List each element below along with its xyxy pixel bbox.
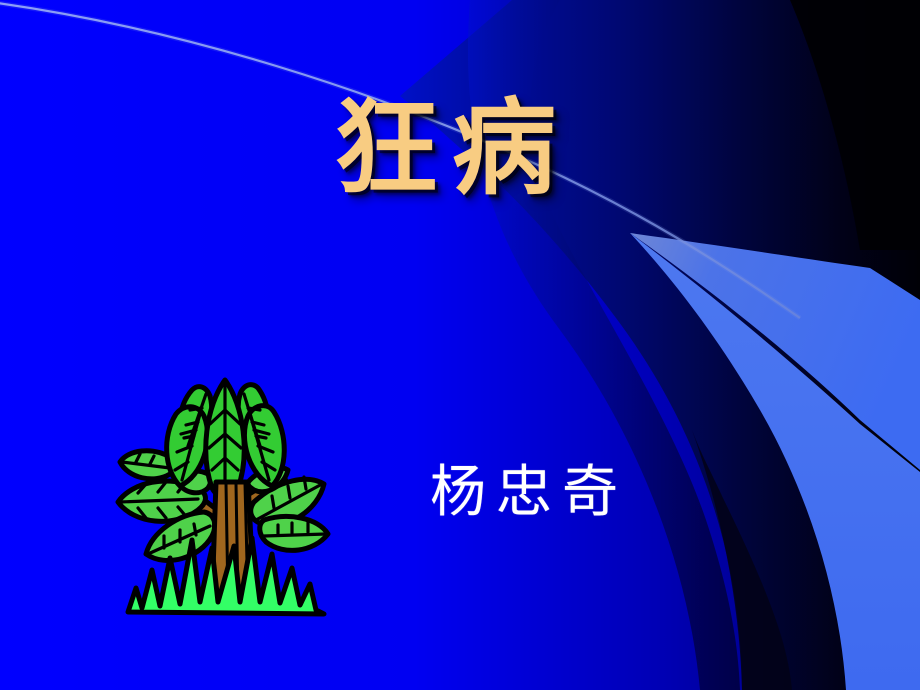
plant-clipart [112,362,342,624]
plant-clipart-svg [112,362,342,624]
title-slide: 狂病 杨忠奇 [0,0,920,690]
